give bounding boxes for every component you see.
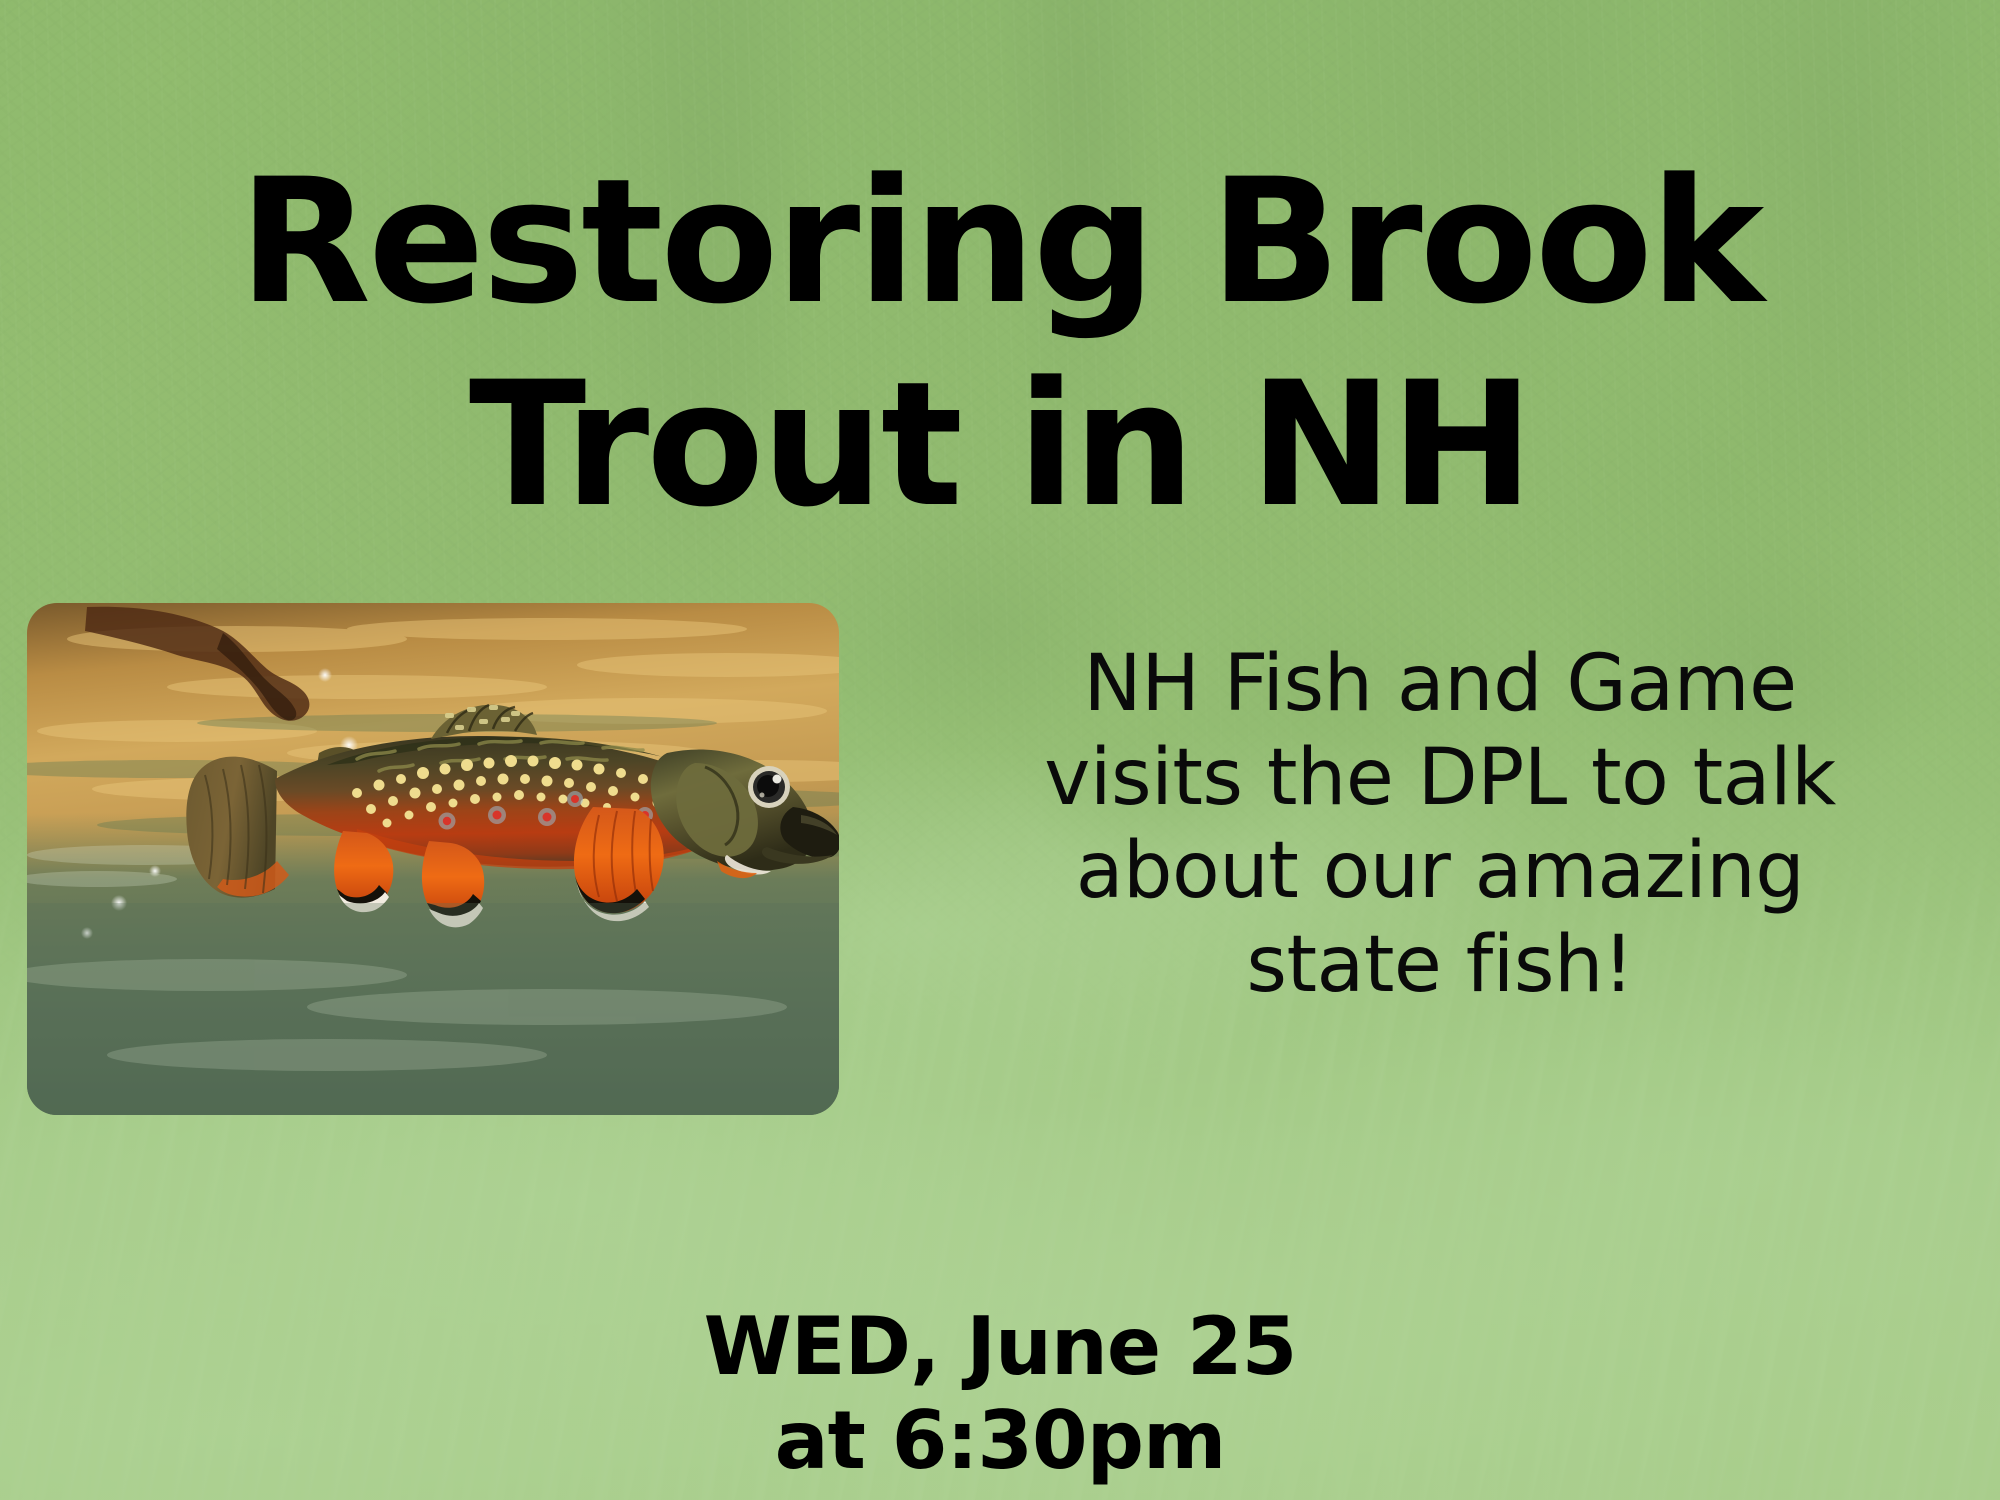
event-time: at 6:30pm — [480, 1394, 1520, 1488]
trout-photo — [27, 603, 839, 1115]
trout-photo-artwork — [27, 603, 839, 1115]
event-datetime: WED, June 25 at 6:30pm — [480, 1300, 1520, 1489]
blurb-line-4: state fish! — [1246, 920, 1633, 1010]
blurb-line-1: NH Fish and Game — [1083, 639, 1796, 729]
event-poster: Restoring Brook Trout in NH — [0, 0, 2000, 1500]
page-title: Restoring Brook Trout in NH — [0, 141, 2000, 547]
title-line-2: Trout in NH — [0, 344, 2000, 547]
title-line-1: Restoring Brook — [0, 141, 2000, 344]
event-date: WED, June 25 — [480, 1300, 1520, 1394]
blurb-line-3: about our amazing — [1076, 826, 1805, 916]
blurb-line-2: visits the DPL to talk — [1044, 733, 1836, 823]
event-description: NH Fish and Game visits the DPL to talk … — [1000, 638, 1880, 1012]
